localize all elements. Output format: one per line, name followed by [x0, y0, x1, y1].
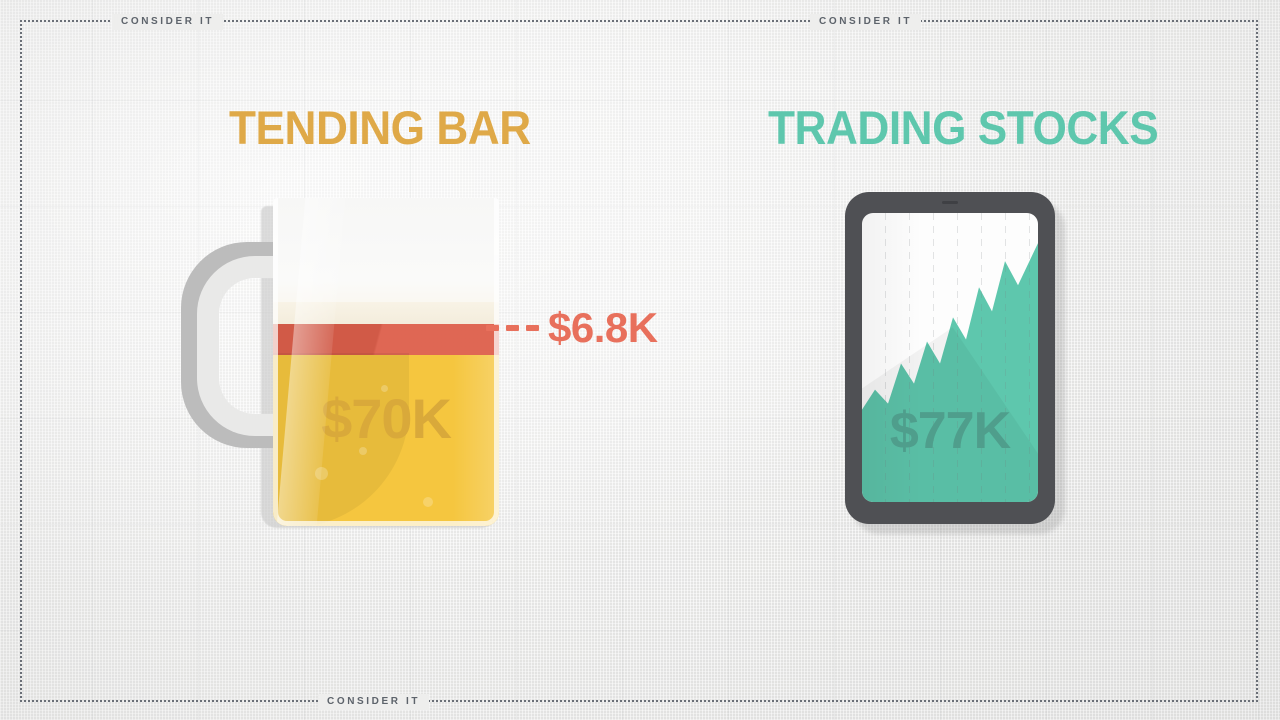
beer-value-label: $70K [273, 391, 499, 447]
callout-value-label: $6.8K [548, 307, 658, 349]
callout-dash [526, 325, 539, 331]
callout-dash-line [486, 325, 539, 331]
frame-label-bottom: CONSIDER IT [318, 694, 429, 710]
phone-speaker-icon [942, 201, 958, 204]
phone-screen: $77K [862, 213, 1038, 502]
callout-dash [506, 325, 519, 331]
frame-label-top-right: CONSIDER IT [810, 14, 921, 30]
beer-bubble [423, 497, 433, 507]
marker-callout: $6.8K [486, 307, 658, 349]
marker-band [273, 324, 499, 355]
stocks-value-label: $77K [862, 405, 1038, 457]
beer-foam [273, 302, 499, 326]
phone-bezel: $77K [845, 192, 1055, 524]
headline-trading-stocks: TRADING STOCKS [768, 104, 1158, 151]
beer-mug-illustration: $70K [175, 190, 520, 540]
smartphone-illustration: $77K [845, 192, 1065, 532]
mug-body: $70K [273, 198, 499, 526]
beer-fill: $70K [273, 355, 499, 526]
mug-glass-empty [273, 198, 499, 316]
beer-bubble [315, 467, 328, 480]
headline-tending-bar: TENDING BAR [229, 104, 531, 151]
infographic-canvas: CONSIDER IT CONSIDER IT CONSIDER IT TEND… [0, 0, 1280, 720]
callout-dash [486, 325, 499, 331]
frame-label-top-left: CONSIDER IT [112, 14, 223, 30]
